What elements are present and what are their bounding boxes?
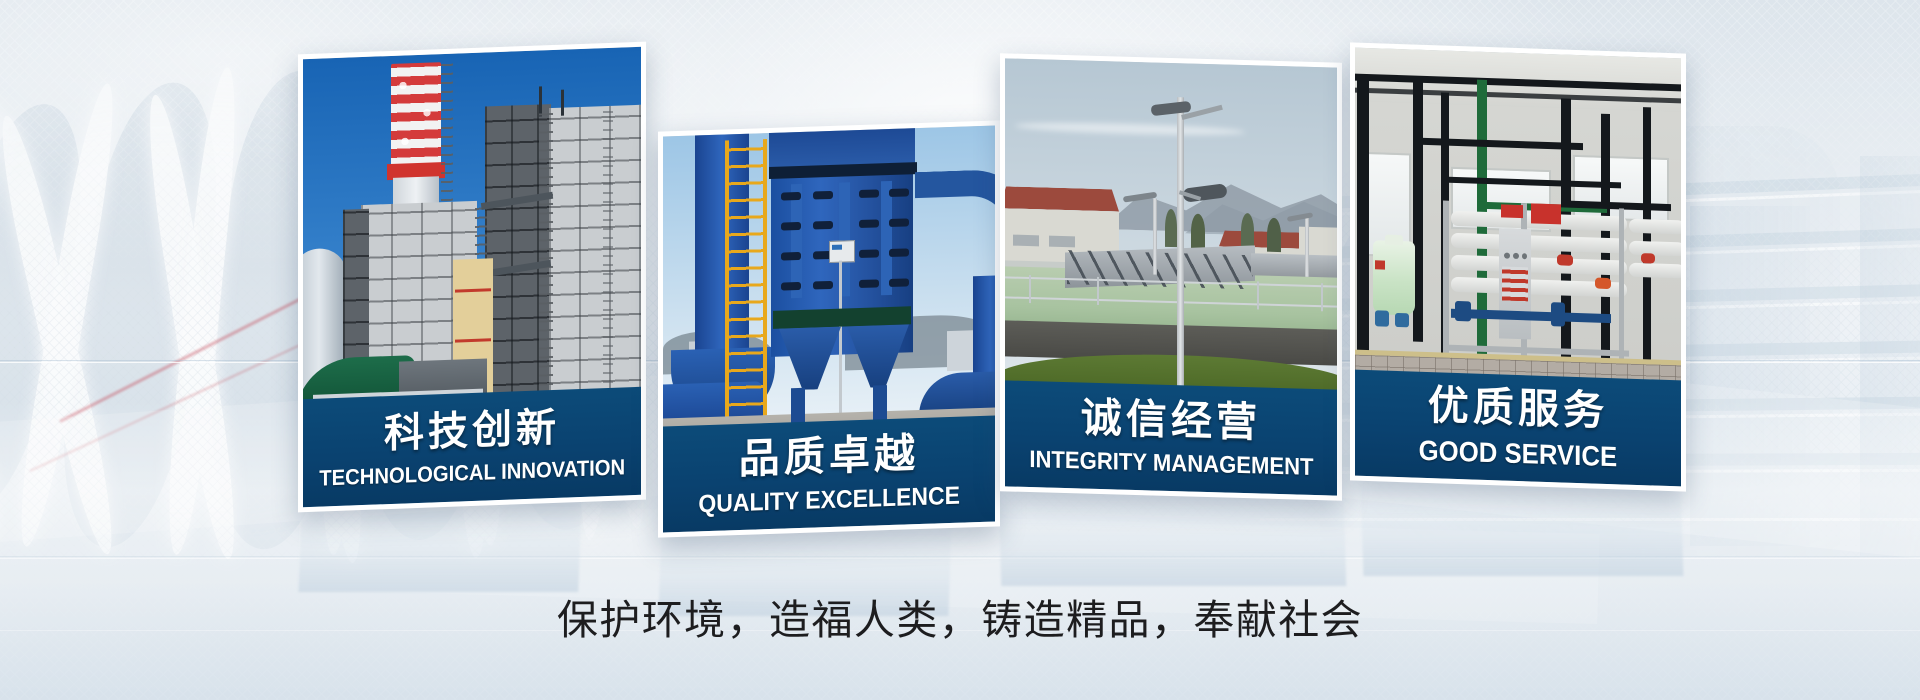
caption-technological-innovation: 科技创新 TECHNOLOGICAL INNOVATION [303, 387, 641, 507]
caption-integrity-management: 诚信经营 INTEGRITY MANAGEMENT [1005, 380, 1337, 495]
caption-title-en: QUALITY EXCELLENCE [698, 483, 960, 517]
caption-title-cn: 科技创新 [384, 407, 560, 453]
panel-technological-innovation[interactable]: 科技创新 TECHNOLOGICAL INNOVATION [298, 42, 646, 513]
banner-tagline: 保护环境，造福人类，铸造精品，奉献社会 [0, 586, 1920, 646]
caption-good-service: 优质服务 GOOD SERVICE [1355, 370, 1681, 487]
caption-title-cn: 诚信经营 [1081, 397, 1261, 443]
caption-title-en: TECHNOLOGICAL INNOVATION [319, 456, 625, 489]
caption-title-cn: 优质服务 [1428, 385, 1608, 432]
panel-integrity-management[interactable]: 诚信经营 INTEGRITY MANAGEMENT [1000, 53, 1342, 501]
caption-title-cn: 品质卓越 [739, 433, 919, 480]
panel-quality-excellence[interactable]: 品质卓越 QUALITY EXCELLENCE [658, 120, 1000, 537]
company-culture-banner: 科技创新 TECHNOLOGICAL INNOVATION [0, 0, 1920, 700]
panel-good-service[interactable]: 优质服务 GOOD SERVICE [1350, 42, 1686, 491]
caption-title-en: INTEGRITY MANAGEMENT [1029, 448, 1313, 480]
caption-title-en: GOOD SERVICE [1419, 437, 1618, 472]
caption-quality-excellence: 品质卓越 QUALITY EXCELLENCE [663, 415, 995, 532]
